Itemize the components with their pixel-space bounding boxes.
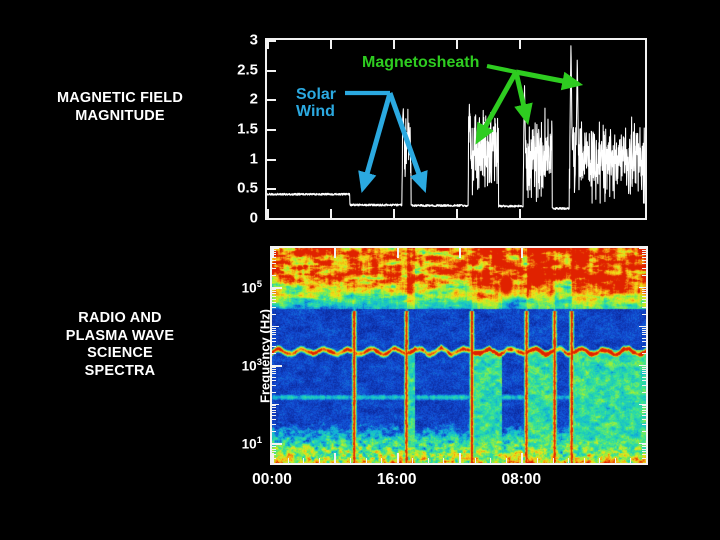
- x-tick-label: 08:00: [502, 471, 542, 489]
- y-minor-tick: [272, 419, 276, 420]
- x-tick-mark: [272, 248, 274, 258]
- x-minor-tick: [615, 458, 616, 463]
- x-tick-mark: [334, 248, 336, 258]
- x-minor-tick: [553, 458, 554, 463]
- y-minor-tick: [642, 328, 646, 329]
- y-minor-tick: [642, 275, 646, 276]
- x-minor-tick: [412, 458, 413, 463]
- y-minor-tick: [642, 405, 646, 406]
- annotation-magnetosheath: Magnetosheath: [362, 54, 479, 71]
- rpws-y-axis-label: Frequency (Hz): [257, 309, 272, 403]
- y-minor-tick: [642, 415, 646, 416]
- y-minor-tick: [272, 302, 276, 303]
- y-minor-tick: [642, 263, 646, 264]
- y-minor-tick: [272, 410, 276, 411]
- y-minor-tick: [272, 415, 276, 416]
- figure-root: MAGNETIC FIELD MAGNITUDE RADIO AND PLASM…: [0, 0, 720, 540]
- y-minor-tick: [642, 377, 646, 378]
- x-minor-tick: [521, 458, 522, 463]
- y-minor-tick: [642, 268, 646, 269]
- y-minor-tick: [272, 268, 276, 269]
- y-minor-tick: [272, 369, 276, 370]
- y-minor-tick: [642, 410, 646, 411]
- y-minor-tick: [272, 326, 279, 327]
- y-minor-tick: [272, 293, 276, 294]
- y-tick-mark: [267, 129, 276, 131]
- y-tick-mantissa: 10: [242, 436, 257, 451]
- y-tick-mark: [267, 70, 276, 72]
- y-minor-tick: [642, 407, 646, 408]
- y-minor-tick: [642, 260, 646, 261]
- x-minor-tick: [584, 458, 585, 463]
- y-minor-tick: [272, 446, 276, 447]
- x-tick-mark: [267, 40, 269, 49]
- y-minor-tick: [642, 454, 646, 455]
- y-tick-label: 0: [250, 210, 258, 227]
- x-minor-tick: [319, 458, 320, 463]
- y-minor-tick: [642, 385, 646, 386]
- y-minor-tick: [272, 405, 276, 406]
- y-minor-tick: [272, 431, 276, 432]
- y-minor-tick: [642, 431, 646, 432]
- x-minor-tick: [646, 458, 647, 463]
- y-minor-tick: [272, 330, 276, 331]
- x-tick-mark: [393, 209, 395, 218]
- y-minor-tick: [639, 287, 646, 288]
- y-minor-tick: [642, 463, 646, 464]
- y-minor-tick: [272, 367, 276, 368]
- x-minor-tick: [303, 458, 304, 463]
- y-minor-tick: [272, 275, 276, 276]
- y-minor-tick: [642, 369, 646, 370]
- y-minor-tick: [642, 392, 646, 393]
- annotation-line: Wind: [296, 103, 335, 120]
- y-minor-tick: [642, 412, 646, 413]
- y-tick-label: 2.5: [237, 61, 258, 78]
- y-minor-tick: [639, 326, 646, 327]
- y-minor-tick: [639, 248, 646, 249]
- y-minor-tick: [642, 330, 646, 331]
- x-minor-tick: [334, 458, 335, 463]
- y-minor-tick: [642, 257, 646, 258]
- y-minor-tick: [642, 296, 646, 297]
- x-tick-mark: [330, 40, 332, 49]
- y-minor-tick: [642, 299, 646, 300]
- y-minor-tick: [272, 260, 276, 261]
- x-minor-tick: [475, 458, 476, 463]
- y-minor-tick: [272, 332, 276, 333]
- y-minor-tick: [272, 299, 276, 300]
- y-minor-tick: [642, 424, 646, 425]
- x-minor-tick: [350, 458, 351, 463]
- y-minor-tick: [272, 444, 276, 445]
- y-tick-label: 3: [250, 32, 258, 49]
- rpws-spectrogram-image: [272, 248, 646, 463]
- rpws-spectrogram-panel: 101103105 00:0016:0008:00 Frequency (Hz): [270, 246, 648, 465]
- y-minor-tick: [272, 449, 276, 450]
- rpws-plot-area: [272, 248, 646, 463]
- y-minor-tick: [642, 250, 646, 251]
- y-minor-tick: [639, 443, 646, 444]
- x-minor-tick: [381, 458, 382, 463]
- y-minor-tick: [639, 404, 646, 405]
- y-minor-tick: [272, 346, 276, 347]
- annotation-solar-wind: Solar Wind: [296, 86, 336, 121]
- caption-line: MAGNETIC FIELD: [10, 90, 230, 108]
- caption-line: SPECTRA: [10, 363, 230, 381]
- x-minor-tick: [537, 458, 538, 463]
- caption-line: MAGNITUDE: [10, 108, 230, 126]
- x-minor-tick: [490, 458, 491, 463]
- y-minor-tick: [642, 341, 646, 342]
- y-minor-tick: [272, 463, 276, 464]
- annotation-line: Solar: [296, 86, 336, 103]
- y-tick-label: 1.5: [237, 121, 258, 138]
- caption-line: SCIENCE: [10, 345, 230, 363]
- y-minor-tick: [642, 444, 646, 445]
- y-tick-mark: [267, 188, 276, 190]
- x-tick-mark: [456, 40, 458, 49]
- annotation-line: Magnetosheath: [362, 54, 479, 71]
- y-minor-tick: [639, 365, 646, 366]
- y-minor-tick: [642, 346, 646, 347]
- y-minor-tick: [642, 373, 646, 374]
- y-tick-label: 105: [242, 279, 262, 296]
- y-tick-mark: [267, 218, 276, 220]
- y-minor-tick: [272, 385, 276, 386]
- y-minor-tick: [642, 353, 646, 354]
- y-minor-tick: [642, 367, 646, 368]
- y-tick-exponent: 1: [257, 434, 262, 445]
- x-tick-label: 00:00: [252, 471, 292, 489]
- x-tick-mark: [330, 209, 332, 218]
- y-minor-tick: [272, 412, 276, 413]
- x-tick-mark: [521, 248, 523, 258]
- x-tick-mark: [519, 40, 521, 49]
- y-minor-tick: [272, 404, 279, 405]
- x-tick-mark: [456, 209, 458, 218]
- y-minor-tick: [642, 293, 646, 294]
- y-tick-label: 2: [250, 91, 258, 108]
- y-minor-tick: [272, 373, 276, 374]
- y-minor-tick: [272, 377, 276, 378]
- y-minor-tick: [272, 407, 276, 408]
- caption-line: PLASMA WAVE: [10, 328, 230, 346]
- x-minor-tick: [599, 458, 600, 463]
- y-minor-tick: [272, 334, 276, 335]
- y-minor-tick: [272, 289, 276, 290]
- y-minor-tick: [642, 446, 646, 447]
- y-minor-tick: [642, 314, 646, 315]
- y-minor-tick: [272, 263, 276, 264]
- y-minor-tick: [642, 252, 646, 253]
- y-minor-tick: [642, 254, 646, 255]
- y-minor-tick: [642, 371, 646, 372]
- x-tick-mark: [393, 40, 395, 49]
- y-minor-tick: [272, 443, 279, 444]
- y-minor-tick: [642, 449, 646, 450]
- y-minor-tick: [642, 307, 646, 308]
- y-tick-mark: [267, 159, 276, 161]
- x-minor-tick: [506, 458, 507, 463]
- y-minor-tick: [642, 419, 646, 420]
- y-minor-tick: [272, 338, 276, 339]
- x-minor-tick: [443, 458, 444, 463]
- y-minor-tick: [272, 353, 276, 354]
- x-tick-mark: [459, 248, 461, 258]
- x-tick-mark: [519, 209, 521, 218]
- x-minor-tick: [459, 458, 460, 463]
- y-minor-tick: [272, 371, 276, 372]
- y-tick-mantissa: 10: [242, 358, 257, 373]
- y-minor-tick: [272, 291, 276, 292]
- y-tick-mantissa: 10: [242, 280, 257, 295]
- x-tick-label: 16:00: [377, 471, 417, 489]
- x-minor-tick: [272, 458, 273, 463]
- x-minor-tick: [630, 458, 631, 463]
- x-minor-tick: [288, 458, 289, 463]
- x-tick-mark: [397, 248, 399, 258]
- y-minor-tick: [642, 334, 646, 335]
- y-minor-tick: [272, 296, 276, 297]
- y-minor-tick: [272, 365, 279, 366]
- y-minor-tick: [642, 332, 646, 333]
- y-minor-tick: [642, 451, 646, 452]
- y-minor-tick: [642, 302, 646, 303]
- y-minor-tick: [272, 307, 276, 308]
- y-minor-tick: [272, 392, 276, 393]
- x-minor-tick: [397, 458, 398, 463]
- y-minor-tick: [272, 424, 276, 425]
- x-minor-tick: [366, 458, 367, 463]
- y-minor-tick: [642, 291, 646, 292]
- y-minor-tick: [272, 328, 276, 329]
- x-minor-tick: [428, 458, 429, 463]
- y-tick-label: 101: [242, 434, 262, 451]
- y-tick-label: 1: [250, 150, 258, 167]
- y-minor-tick: [642, 289, 646, 290]
- y-minor-tick: [642, 380, 646, 381]
- y-minor-tick: [272, 314, 276, 315]
- x-minor-tick: [568, 458, 569, 463]
- x-tick-mark: [267, 209, 269, 218]
- caption-line: RADIO AND: [10, 310, 230, 328]
- y-tick-exponent: 5: [257, 279, 262, 290]
- y-tick-label: 0.5: [237, 180, 258, 197]
- y-tick-mark: [267, 99, 276, 101]
- panel-caption-rpws: RADIO AND PLASMA WAVE SCIENCE SPECTRA: [10, 310, 230, 381]
- y-minor-tick: [272, 380, 276, 381]
- y-minor-tick: [272, 341, 276, 342]
- panel-caption-magnetic-field: MAGNETIC FIELD MAGNITUDE: [10, 90, 230, 125]
- y-minor-tick: [272, 287, 279, 288]
- y-minor-tick: [642, 338, 646, 339]
